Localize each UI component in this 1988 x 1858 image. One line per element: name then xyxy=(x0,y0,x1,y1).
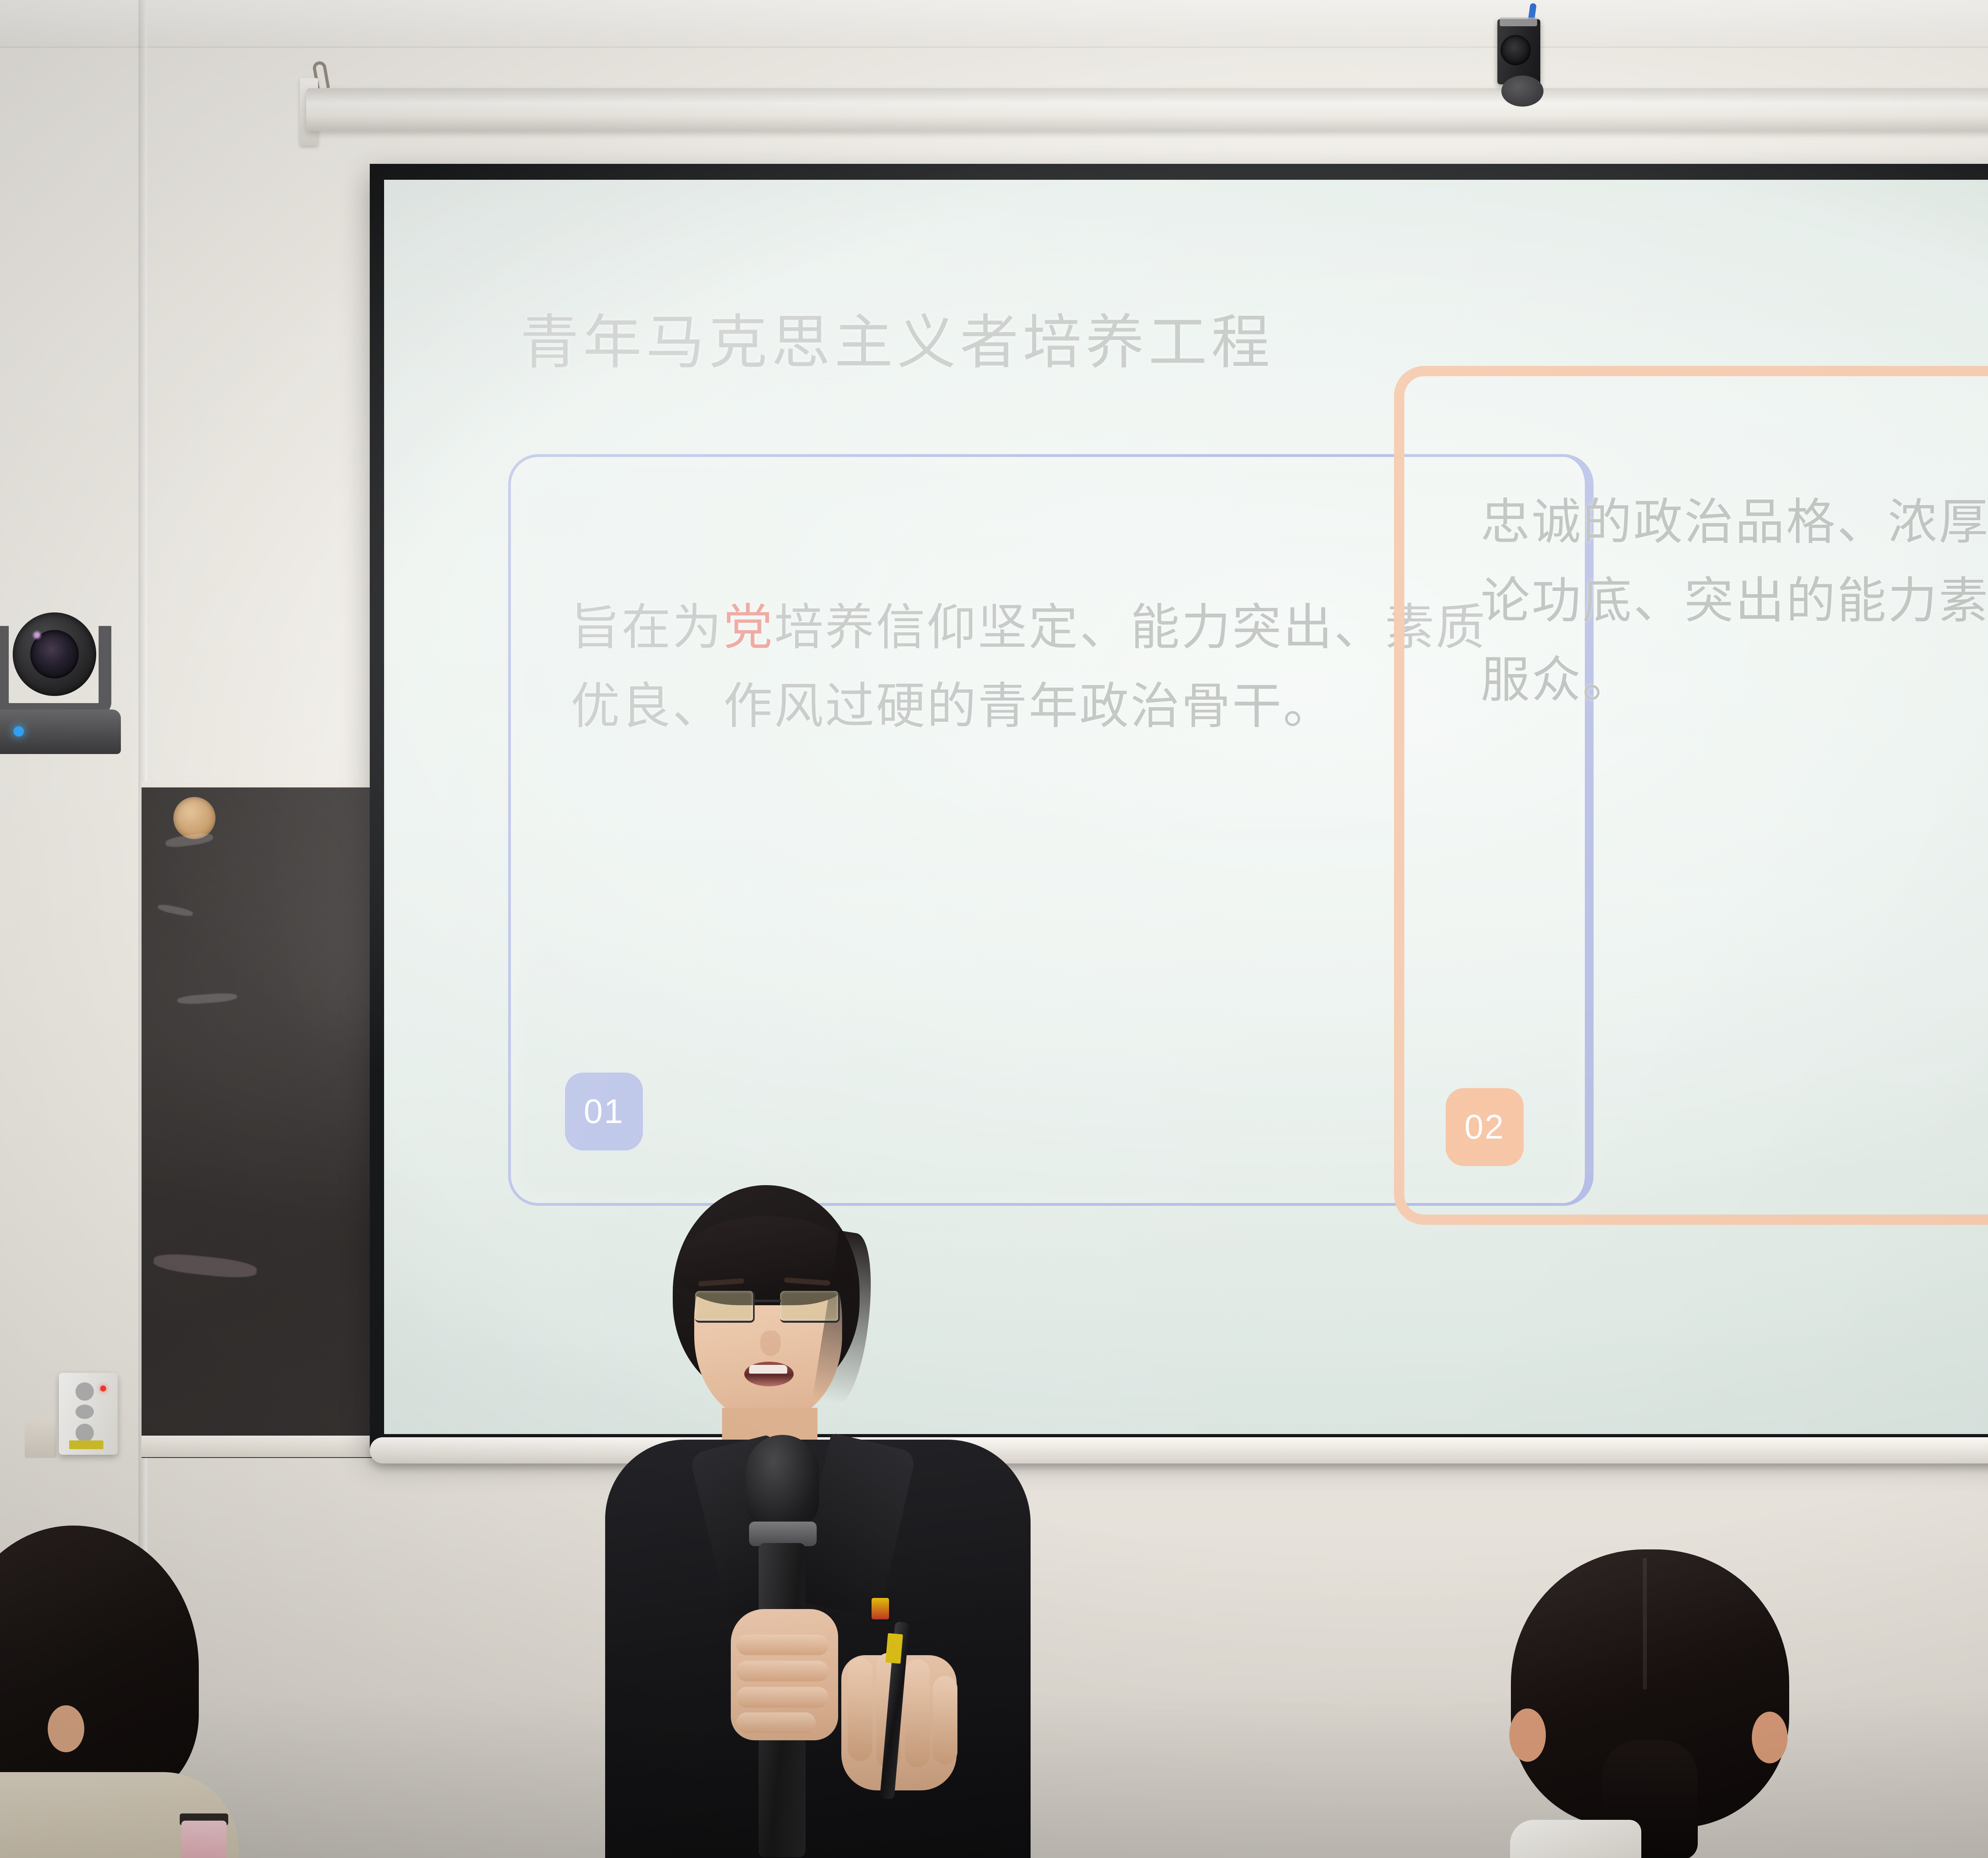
panel-button-stop[interactable] xyxy=(76,1405,94,1419)
presenter-finger xyxy=(736,1634,829,1655)
audience-member-left xyxy=(0,1526,231,1858)
slide-title: 青年马克思主义者培养工程 xyxy=(520,294,1274,380)
card-01-highlight: 党 xyxy=(723,600,774,655)
presenter-finger xyxy=(848,1658,872,1761)
microphone-icon xyxy=(746,1435,819,1530)
presenter-nose xyxy=(760,1331,781,1356)
eyeglass-lens xyxy=(780,1291,840,1323)
presenter-finger xyxy=(905,1659,930,1767)
chalk-mark xyxy=(177,992,237,1005)
card-01-text-before: 旨在为 xyxy=(571,600,723,655)
audience-ear xyxy=(48,1705,84,1752)
laser-pointer-label xyxy=(885,1633,903,1664)
slide-card-01-text: 旨在为党培养信仰坚定、能力突出、素质优良、作风过硬的青年政治骨干。 xyxy=(571,588,1537,746)
presenter xyxy=(588,1185,1050,1858)
blackboard-sticker xyxy=(173,797,215,839)
chalk-mark xyxy=(157,903,194,917)
lens-glint xyxy=(33,632,41,639)
audience-ear xyxy=(1752,1712,1788,1763)
presenter-finger xyxy=(736,1687,829,1708)
camera-lens xyxy=(1501,35,1531,65)
panel-button-down[interactable] xyxy=(76,1424,94,1442)
camera-top-label xyxy=(1500,17,1537,26)
camera-wall-mount xyxy=(1501,76,1543,107)
screen-roller-housing xyxy=(306,88,1988,131)
panel-power-led-icon xyxy=(100,1386,106,1392)
lapel-pin-icon xyxy=(872,1598,889,1619)
microphone-collar xyxy=(749,1522,817,1546)
security-camera-icon xyxy=(1478,6,1570,125)
classroom-scene: 青年马克思主义者培养工程 旨在为党培养信仰坚定、能力突出、素质优良、作风过硬的青… xyxy=(0,0,1988,1858)
eyeglass-bridge xyxy=(755,1300,781,1302)
slide-badge-02: 02 xyxy=(1446,1088,1524,1166)
card-02-text-before: 忠诚的政治品格、浓厚的家国情怀、扎实的理论功底、突出的能力素质， xyxy=(1481,495,1988,628)
audience-member-center xyxy=(1463,1549,1885,1858)
wall-plate xyxy=(25,1417,56,1458)
chalk-mark xyxy=(153,1252,257,1281)
panel-label-sticker xyxy=(69,1440,103,1449)
audience-ear xyxy=(1509,1708,1546,1762)
screen-control-panel[interactable] xyxy=(59,1373,118,1455)
slide-card-02: 忠诚的政治品格、浓厚的家国情怀、扎实的理论功底、突出的能力素质，忠恕任事、人品服… xyxy=(1394,366,1988,1225)
panel-button-up[interactable] xyxy=(76,1382,94,1401)
slide-badge-01: 01 xyxy=(565,1073,643,1151)
audience-collar xyxy=(1510,1820,1641,1858)
eyeglass-lens xyxy=(695,1291,755,1323)
ptz-camera-led-icon xyxy=(14,726,24,737)
slide-card-02-text: 忠诚的政治品格、浓厚的家国情怀、扎实的理论功底、突出的能力素质，忠恕任事、人品服… xyxy=(1481,483,1988,719)
water-bottle-icon xyxy=(181,1821,227,1858)
audience-hair-part xyxy=(1643,1558,1647,1689)
ptz-camera-head xyxy=(13,612,96,696)
ceiling-edge xyxy=(0,0,1988,48)
presenter-teeth xyxy=(749,1365,787,1374)
audience-hair xyxy=(0,1526,199,1804)
presenter-finger xyxy=(736,1712,816,1733)
presenter-finger xyxy=(736,1661,829,1681)
eyeglasses-icon xyxy=(693,1291,845,1326)
presenter-finger xyxy=(933,1676,957,1764)
ptz-camera-icon xyxy=(0,612,126,755)
